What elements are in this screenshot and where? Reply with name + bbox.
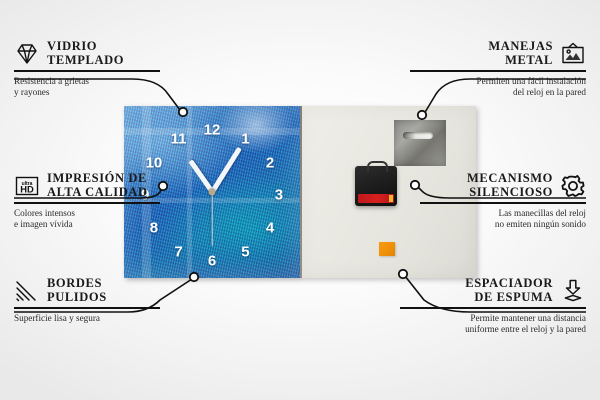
diamond-icon — [14, 42, 40, 66]
callout-title-line2: ALTA CALIDAD — [47, 186, 148, 200]
callout-title-line1: ESPACIADOR — [465, 277, 553, 291]
callout-description: Colores intensos e imagen vívida — [14, 208, 178, 231]
battery-label — [358, 194, 394, 203]
panel-seam — [300, 106, 302, 278]
callout-title-line1: VIDRIO — [47, 40, 124, 54]
wall-frame-hook-icon — [560, 42, 586, 66]
callout-description: Permiten una fácil instalación del reloj… — [396, 76, 586, 99]
clock-numeral-10: 10 — [146, 155, 163, 170]
callout-hd-print: ultra HD IMPRESIÓN DE ALTA CALIDAD Color… — [14, 172, 178, 231]
callout-silent-mechanism: MECANISMO SILENCIOSO Las manecillas del … — [406, 172, 586, 231]
callout-polished-edges: BORDES PULIDOS Superficie lisa y segura — [14, 277, 174, 324]
clock-numeral-2: 2 — [266, 155, 274, 170]
callout-rule — [14, 70, 160, 72]
callout-rule — [14, 202, 160, 204]
hanger-slot — [403, 132, 433, 139]
ultra-hd-icon: ultra HD — [14, 174, 40, 198]
callout-description: Resistencia a grietas y rayones — [14, 76, 174, 99]
clock-numeral-11: 11 — [171, 131, 187, 146]
clock-numeral-12: 12 — [204, 123, 221, 138]
clock-numeral-7: 7 — [174, 245, 182, 260]
callout-title-line2: METAL — [488, 54, 553, 68]
metal-hanger-plate — [394, 120, 446, 166]
callout-tempered-glass: VIDRIO TEMPLADO Resistencia a grietas y … — [14, 40, 174, 99]
callout-title-line1: MANEJAS — [488, 40, 553, 54]
callout-rule — [410, 70, 586, 72]
callout-title-line1: MECANISMO — [467, 172, 553, 186]
callout-title-line2: DE ESPUMA — [465, 291, 553, 305]
callout-description: Superficie lisa y segura — [14, 313, 174, 325]
callout-rule — [14, 307, 160, 309]
callout-rule — [400, 307, 586, 309]
callout-title-line2: SILENCIOSO — [467, 186, 553, 200]
gear-icon — [560, 174, 586, 198]
clock-numeral-6: 6 — [208, 253, 216, 268]
callout-title-line1: IMPRESIÓN DE — [47, 172, 148, 186]
clock-numeral-3: 3 — [275, 188, 283, 203]
callout-title-line1: BORDES — [47, 277, 107, 291]
down-arrow-stack-icon — [560, 279, 586, 303]
battery-terminal — [389, 195, 393, 202]
ultra-hd-icon-large-label: HD — [20, 183, 34, 194]
callout-rule — [420, 202, 586, 204]
callout-metal-handles: MANEJAS METAL Permiten una fácil instala… — [396, 40, 586, 99]
quartz-movement — [355, 166, 397, 206]
infographic-canvas: 12 1 2 3 4 5 6 7 8 9 10 11 — [0, 0, 600, 400]
callout-title-line2: PULIDOS — [47, 291, 107, 305]
movement-hanger-loop — [367, 161, 388, 172]
glass-highlight — [216, 106, 297, 154]
clock-numeral-1: 1 — [241, 131, 249, 146]
clock-second-hand — [211, 192, 212, 246]
clock-numeral-5: 5 — [241, 245, 249, 260]
callout-description: Las manecillas del reloj no emiten ningú… — [406, 208, 586, 231]
foam-spacer — [379, 242, 395, 256]
polished-edge-icon — [14, 279, 40, 303]
clock-center-cap — [209, 189, 216, 196]
callout-title-line2: TEMPLADO — [47, 54, 124, 68]
callout-description: Permite mantener una distancia uniforme … — [386, 313, 586, 336]
clock-numeral-4: 4 — [266, 221, 274, 236]
callout-foam-spacer: ESPACIADOR DE ESPUMA Permite mantener un… — [386, 277, 586, 336]
